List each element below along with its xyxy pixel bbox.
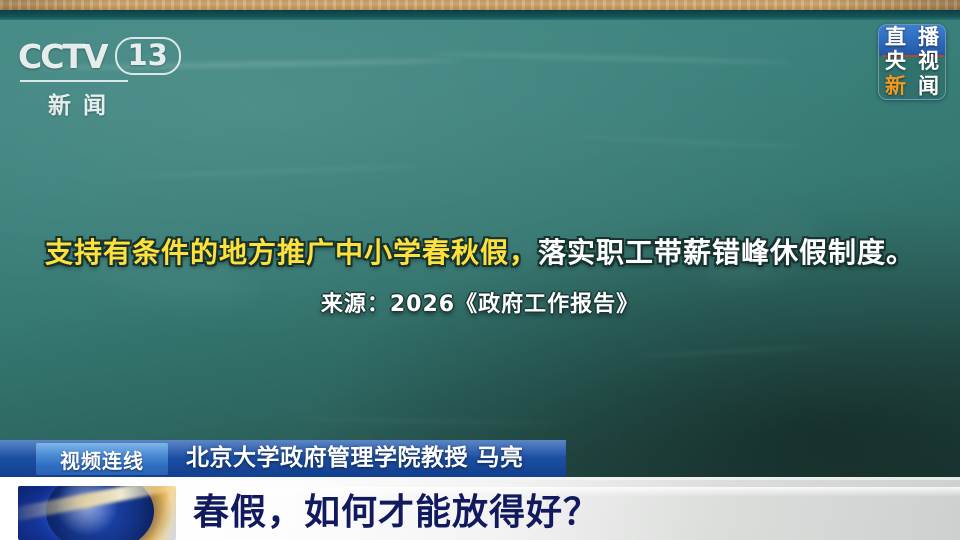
broadcast-screen: CCTV 13 新闻 直 播 央 视 新 闻 支持有条件的地方推广中小学春秋假，…: [0, 0, 960, 540]
cctv13-channel-logo: CCTV 13 新闻: [18, 36, 168, 114]
program-topic-title: 春假，如何才能放得好？: [193, 477, 600, 540]
live-badge-char-wen: 闻: [918, 76, 939, 97]
headline-highlight: 支持有条件的地方推广中小学春秋假，: [45, 236, 538, 269]
cctv-channel-number: 13: [115, 37, 181, 75]
guest-credit: 北京大学政府管理学院教授 马亮: [186, 442, 524, 475]
video-link-tab-label: 视频连线: [60, 445, 144, 474]
live-badge-char-zhi: 直: [885, 27, 906, 48]
headline-quote: 支持有条件的地方推广中小学春秋假，落实职工带薪错峰休假制度。: [0, 238, 960, 269]
chalk-smear: [120, 165, 420, 178]
video-link-tab: 视频连线: [36, 443, 168, 475]
live-broadcast-badge: 直 播 央 视 新 闻: [878, 24, 946, 100]
globe-graphic: [18, 486, 176, 540]
cctv-logo-subtitle: 新闻: [48, 86, 118, 120]
live-badge-characters: 直 播 央 视 新 闻: [879, 25, 945, 99]
lower-third: 视频连线 北京大学政府管理学院教授 马亮 春假，如何才能放得好？: [0, 440, 960, 540]
blackboard-wood-frame: [0, 0, 960, 10]
live-badge-char-yang: 央: [885, 51, 906, 72]
live-badge-char-xin: 新: [885, 76, 906, 97]
chalk-smear: [430, 52, 790, 65]
live-badge-char-shi: 视: [918, 51, 939, 72]
chalk-smear: [560, 135, 800, 149]
live-badge-char-bo: 播: [918, 27, 939, 48]
headline-source: 来源：2026《政府工作报告》: [0, 286, 960, 318]
cctv-logo-underline: [20, 80, 128, 82]
chalk-smear: [300, 418, 560, 426]
chalk-smear: [640, 345, 820, 357]
headline-rest: 落实职工带薪错峰休假制度。: [538, 236, 915, 269]
cctv-wordmark: CCTV: [18, 40, 107, 73]
